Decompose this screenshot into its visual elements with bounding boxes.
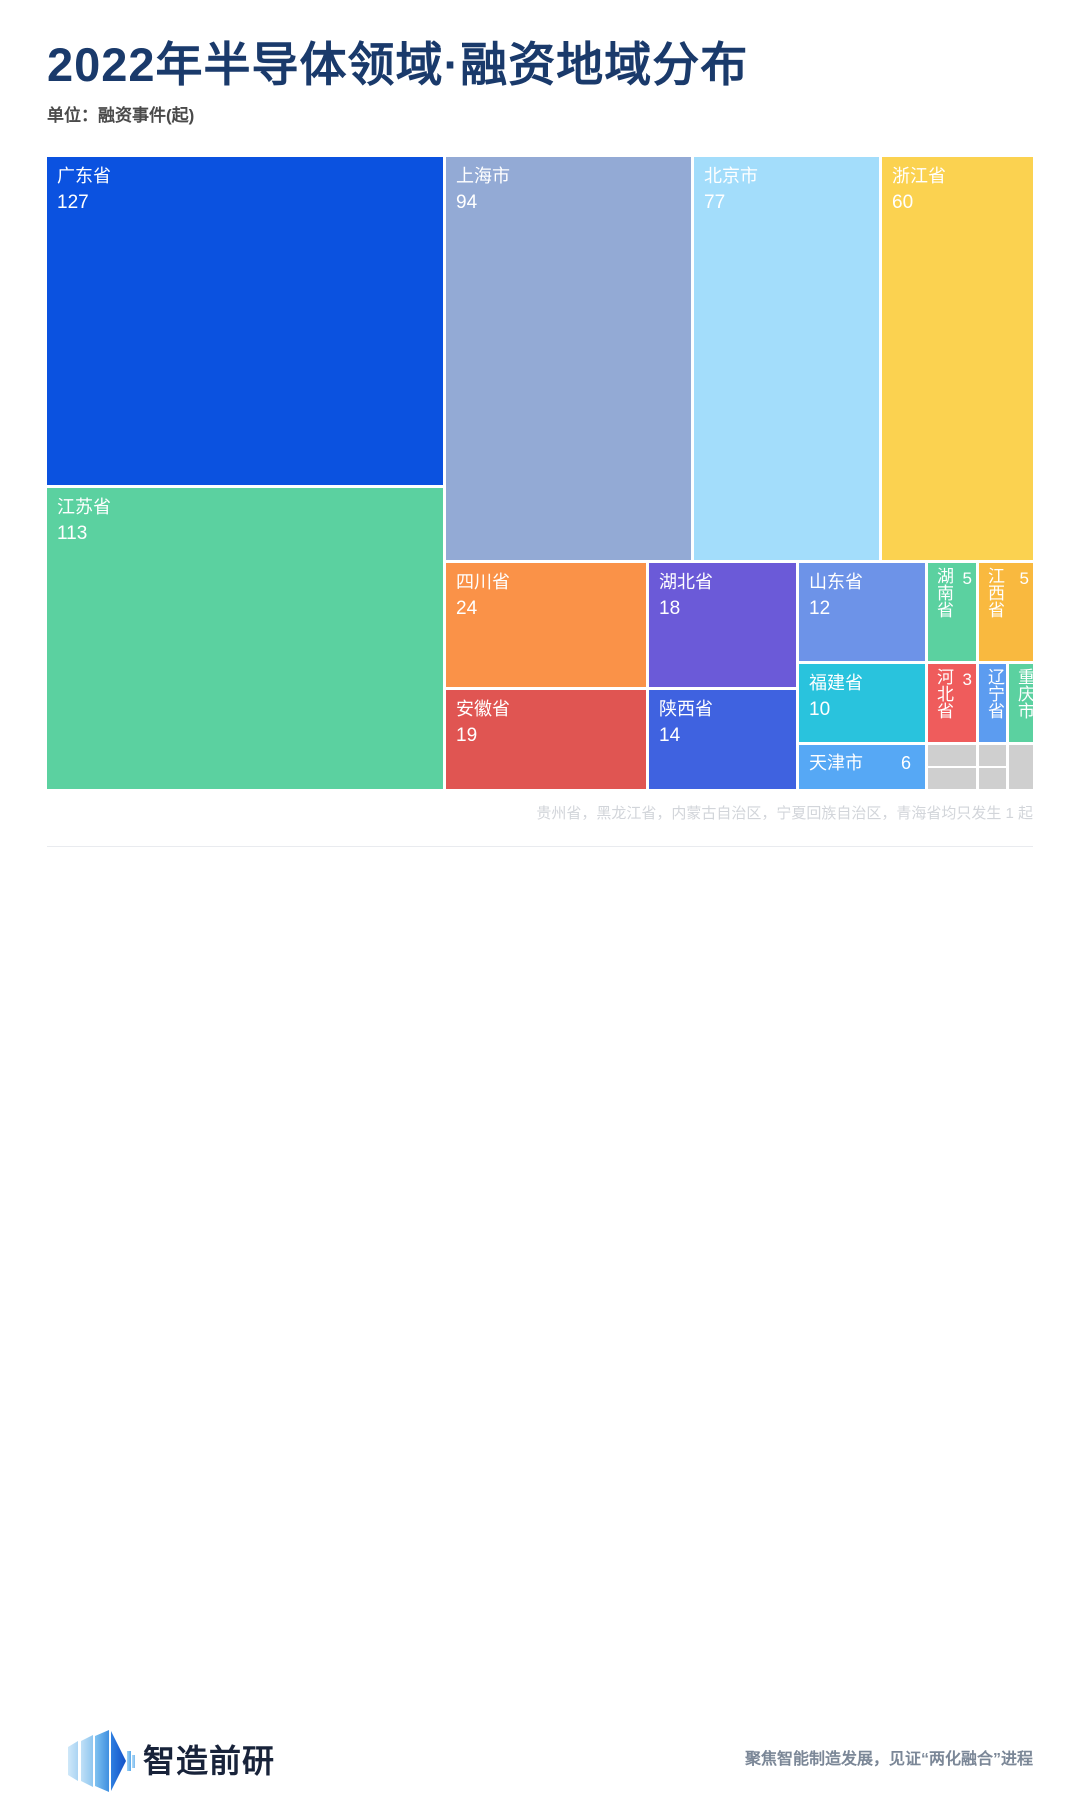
treemap-tile-重庆市[interactable]: 重庆市 — [1009, 664, 1033, 742]
treemap-tile-陕西省[interactable]: 陕西省14 — [649, 690, 796, 789]
treemap-chart: 广东省127江苏省113上海市94北京市77浙江省60四川省24安徽省19湖北省… — [47, 157, 1033, 789]
blades-logo-icon — [66, 1727, 138, 1795]
treemap-tile-辽宁省[interactable]: 辽宁省 — [979, 664, 1006, 742]
treemap-tile-四川省[interactable]: 四川省24 — [446, 563, 646, 687]
footer-divider — [47, 846, 1033, 847]
chart-footnote: 贵州省，黑龙江省，内蒙古自治区，宁夏回族自治区，青海省均只发生 1 起 — [47, 803, 1033, 825]
treemap-tile-广东省[interactable]: 广东省127 — [47, 157, 443, 485]
treemap-tile-湖北省[interactable]: 湖北省18 — [649, 563, 796, 687]
brand-name: 智造前研 — [143, 1739, 275, 1783]
treemap-tile-label: 四川省 — [456, 570, 510, 595]
treemap-tile-value: 14 — [659, 723, 680, 748]
treemap-tile-label: 上海市 — [456, 164, 510, 189]
treemap-tile-value: 10 — [809, 697, 830, 722]
treemap-tile-value: 60 — [892, 190, 913, 215]
treemap-tile-empty[interactable] — [979, 745, 1006, 766]
treemap-tile-value: 6 — [901, 751, 911, 776]
treemap-tile-value: 5 — [963, 566, 972, 591]
treemap-tile-label: 天津市 — [809, 751, 863, 776]
treemap-tile-value: 127 — [57, 190, 89, 215]
treemap-tile-label: 河北省 — [934, 668, 953, 719]
treemap-tile-value: 12 — [809, 596, 830, 621]
treemap-tile-label: 福建省 — [809, 671, 863, 696]
treemap-tile-value: 3 — [963, 667, 972, 692]
treemap-tile-value: 18 — [659, 596, 680, 621]
treemap-tile-天津市[interactable]: 天津市6 — [799, 745, 925, 789]
treemap-tile-label: 浙江省 — [892, 164, 946, 189]
treemap-tile-湖南省[interactable]: 湖南省5 — [928, 563, 976, 661]
treemap-tile-label: 重庆市 — [1015, 668, 1033, 719]
treemap-tile-山东省[interactable]: 山东省12 — [799, 563, 925, 661]
treemap-tile-empty[interactable] — [928, 768, 976, 789]
treemap-tile-label: 湖南省 — [934, 567, 953, 618]
treemap-tile-label: 北京市 — [704, 164, 758, 189]
treemap-tile-江苏省[interactable]: 江苏省113 — [47, 488, 443, 789]
treemap-tile-安徽省[interactable]: 安徽省19 — [446, 690, 646, 789]
treemap-tile-label: 陕西省 — [659, 697, 713, 722]
treemap-tile-江西省[interactable]: 江西省5 — [979, 563, 1033, 661]
treemap-tile-label: 江西省 — [985, 567, 1004, 618]
page-title: 2022年半导体领域·融资地域分布 — [47, 36, 1037, 94]
infographic-page: 2022年半导体领域·融资地域分布 单位：融资事件(起) 广东省127江苏省11… — [0, 0, 1080, 964]
treemap-tile-value: 24 — [456, 596, 477, 621]
header: 2022年半导体领域·融资地域分布 单位：融资事件(起) — [47, 36, 1037, 127]
treemap-tile-empty[interactable] — [928, 745, 976, 766]
treemap-tile-label: 安徽省 — [456, 697, 510, 722]
treemap-tile-北京市[interactable]: 北京市77 — [694, 157, 879, 560]
footer-tagline: 聚焦智能制造发展，见证“两化融合”进程 — [745, 1748, 1033, 1772]
treemap-tile-value: 5 — [1020, 566, 1029, 591]
treemap-tile-上海市[interactable]: 上海市94 — [446, 157, 691, 560]
treemap-tile-label: 广东省 — [57, 164, 111, 189]
treemap-tile-label: 山东省 — [809, 570, 863, 595]
page-subtitle: 单位：融资事件(起) — [47, 105, 1037, 127]
treemap-tile-empty[interactable] — [1009, 745, 1033, 789]
treemap-tile-福建省[interactable]: 福建省10 — [799, 664, 925, 742]
treemap-tile-浙江省[interactable]: 浙江省60 — [882, 157, 1033, 560]
treemap-tile-label: 湖北省 — [659, 570, 713, 595]
treemap-tile-value: 113 — [57, 521, 87, 546]
treemap-tile-河北省[interactable]: 河北省3 — [928, 664, 976, 742]
treemap-tile-label: 辽宁省 — [985, 668, 1004, 719]
footer: 智造前研 聚焦智能制造发展，见证“两化融合”进程 — [0, 855, 1080, 964]
treemap-tile-value: 19 — [456, 723, 477, 748]
treemap-tile-value: 77 — [704, 190, 725, 215]
treemap-tile-value: 94 — [456, 190, 477, 215]
treemap-tile-empty[interactable] — [979, 768, 1006, 789]
treemap-tile-label: 江苏省 — [57, 495, 111, 520]
